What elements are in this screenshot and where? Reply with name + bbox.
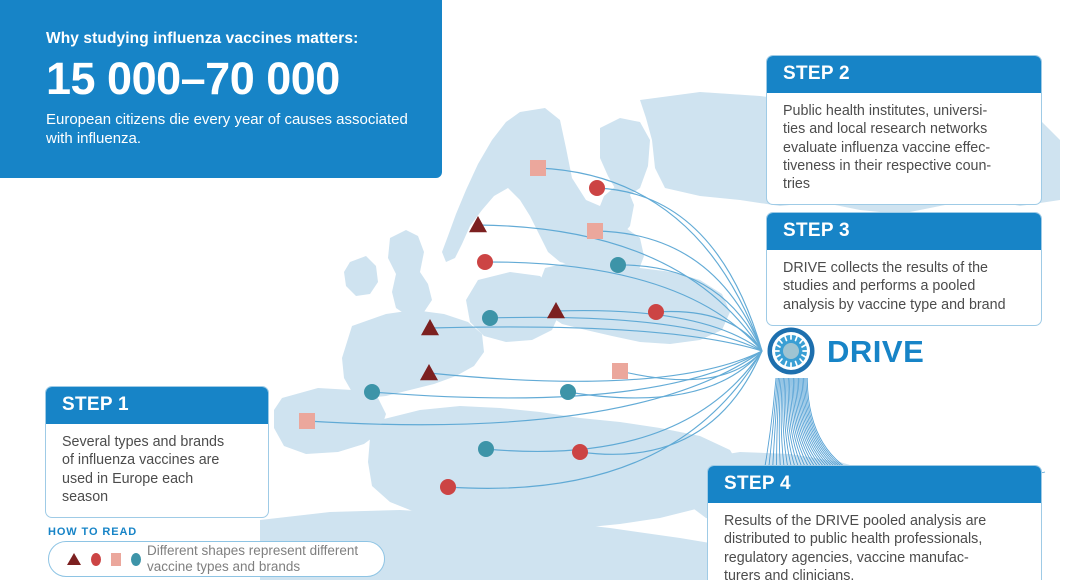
drive-logo: DRIVE xyxy=(766,326,924,376)
marker-circle-benelux xyxy=(482,310,498,326)
step-3-title: STEP 3 xyxy=(767,213,1041,250)
hero-kicker: Why studying influenza vaccines matters: xyxy=(46,30,408,49)
marker-circle-denmark xyxy=(477,254,493,270)
hero-subtitle: European citizens die every year of caus… xyxy=(46,110,408,148)
legend-red-circle-icon xyxy=(91,553,101,566)
marker-circle-latvia xyxy=(610,257,626,273)
step-2-body: Public health institutes, universi- ties… xyxy=(767,93,1041,204)
legend-salmon-square-icon xyxy=(111,553,121,566)
step-1-body: Several types and brands of influenza va… xyxy=(46,424,268,517)
marker-square-sweden xyxy=(530,160,546,176)
how-to-read-heading: HOW TO READ xyxy=(48,526,137,538)
connector-line xyxy=(620,351,762,380)
marker-circle-italy xyxy=(478,441,494,457)
step-4-title: STEP 4 xyxy=(708,466,1041,503)
marker-circle-hungary xyxy=(560,384,576,400)
hero-statistic: 15 000–70 000 xyxy=(46,55,408,102)
step-1-title: STEP 1 xyxy=(46,387,268,424)
infographic-canvas: Why studying influenza vaccines matters:… xyxy=(0,0,1068,580)
step-2-title: STEP 2 xyxy=(767,56,1041,93)
step-4-body: Results of the DRIVE pooled analysis are… xyxy=(708,503,1041,580)
marker-circle-finland xyxy=(589,180,605,196)
step-card-4: STEP 4 Results of the DRIVE pooled analy… xyxy=(707,465,1042,580)
virus-circle-icon xyxy=(766,326,816,376)
hero-panel: Why studying influenza vaccines matters:… xyxy=(0,0,442,178)
marker-square-romania xyxy=(612,363,628,379)
marker-square-spain xyxy=(299,413,315,429)
marker-circle-bulgaria xyxy=(572,444,588,460)
marker-square-estonia xyxy=(587,223,603,239)
marker-circle-france-w xyxy=(364,384,380,400)
step-3-body: DRIVE collects the results of the studie… xyxy=(767,250,1041,325)
step-card-2: STEP 2 Public health institutes, univers… xyxy=(766,55,1042,205)
legend-box: Different shapes represent different vac… xyxy=(48,541,385,577)
legend-triangle-icon xyxy=(67,553,81,565)
step-card-1: STEP 1 Several types and brands of influ… xyxy=(45,386,269,518)
legend-description: Different shapes represent different vac… xyxy=(141,543,358,576)
marker-circle-ukraine xyxy=(648,304,664,320)
connector-line xyxy=(568,351,762,398)
legend-teal-circle-icon xyxy=(131,553,141,566)
drive-wordmark: DRIVE xyxy=(827,336,924,367)
step-card-3: STEP 3 DRIVE collects the results of the… xyxy=(766,212,1042,326)
legend-shapes xyxy=(49,553,141,566)
marker-circle-sardinia xyxy=(440,479,456,495)
